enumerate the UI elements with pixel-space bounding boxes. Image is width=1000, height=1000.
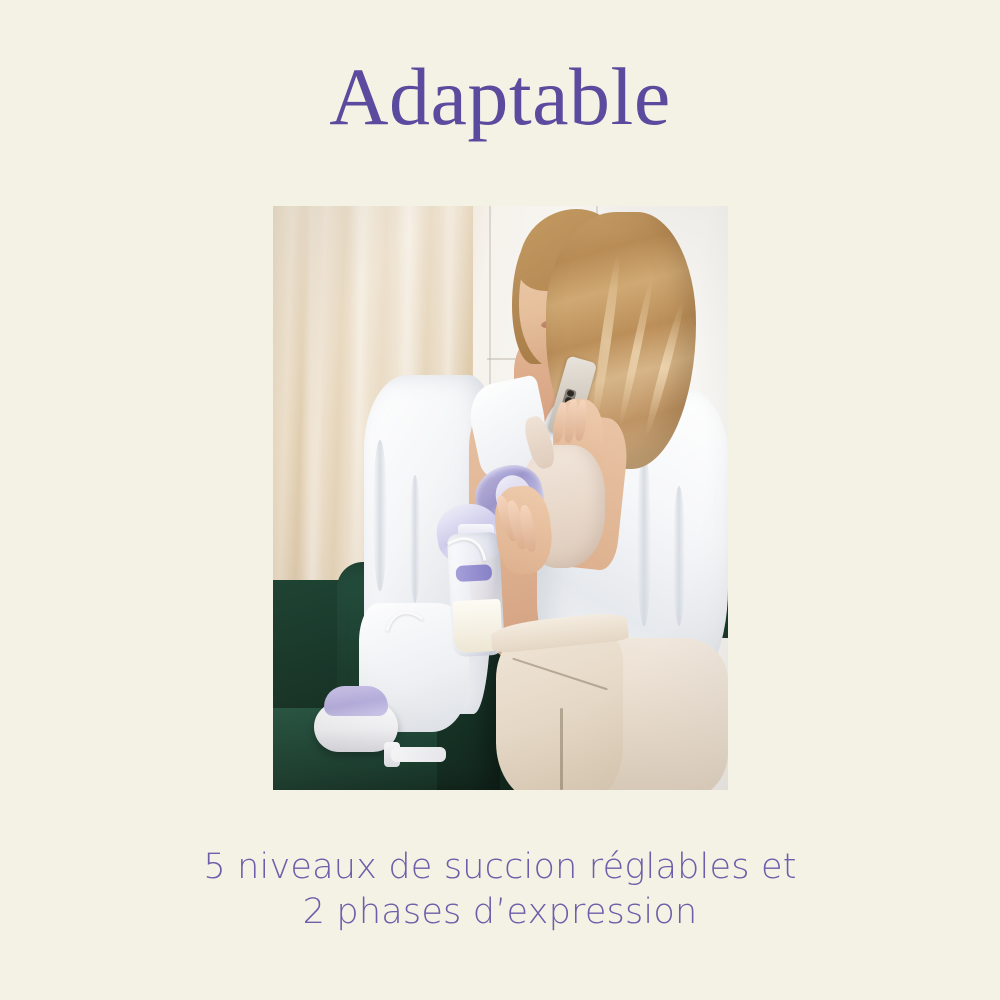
shirt-fold xyxy=(373,440,387,592)
caption-line-1: 5 niveaux de succion réglables et xyxy=(203,847,796,887)
page-title: Adaptable xyxy=(0,56,1000,138)
product-feature-poster: Adaptable xyxy=(0,0,1000,1000)
motor-unit-top-panel xyxy=(324,686,388,717)
feature-caption: 5 niveaux de succion réglables et 2 phas… xyxy=(80,845,920,935)
leggings-seam xyxy=(560,708,563,790)
lifestyle-photo xyxy=(273,206,728,790)
power-cord xyxy=(391,747,446,762)
caption-line-2: 2 phases d’expression xyxy=(80,890,920,935)
